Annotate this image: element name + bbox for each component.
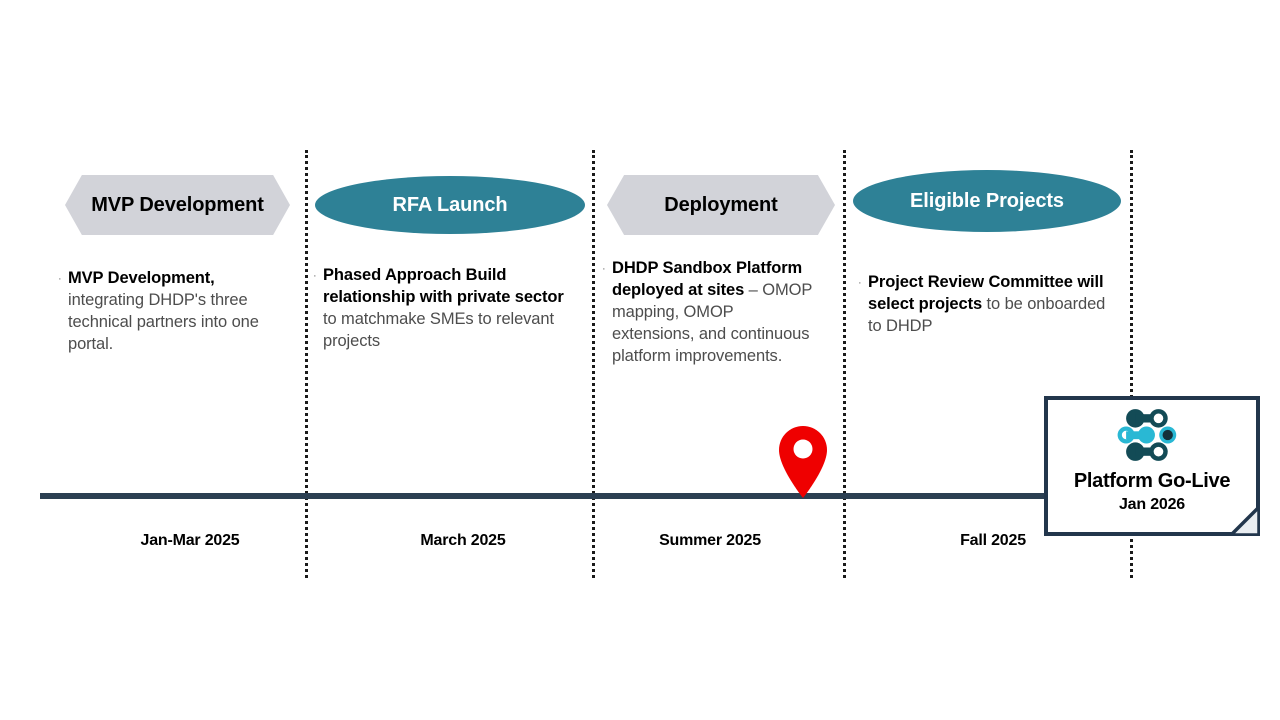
phase-banner-label: RFA Launch bbox=[383, 194, 518, 216]
date-label-jan-mar-2025: Jan-Mar 2025 bbox=[90, 532, 290, 550]
bullet-text: MVP Development, integrating DHDP's thre… bbox=[68, 268, 273, 356]
column-divider-1 bbox=[305, 150, 308, 578]
bullet-text: Project Review Committee will select pro… bbox=[868, 272, 1108, 338]
phase-bullet-mvp-development: · MVP Development, integrating DHDP's th… bbox=[58, 268, 273, 356]
map-pin-icon[interactable] bbox=[779, 426, 827, 498]
bullet-text: Phased Approach Build relationship with … bbox=[323, 265, 573, 353]
phase-banner-label: Eligible Projects bbox=[900, 190, 1074, 212]
bullet-bold-text: MVP Development, bbox=[68, 269, 215, 287]
phase-banner-label: MVP Development bbox=[81, 194, 274, 216]
bullet-dot-icon: · bbox=[58, 268, 68, 290]
phase-bullet-eligible-projects: · Project Review Committee will select p… bbox=[858, 272, 1108, 338]
column-divider-2 bbox=[592, 150, 595, 578]
phase-banner-mvp-development[interactable]: MVP Development bbox=[65, 175, 290, 235]
slide-canvas: MVP Development · MVP Development, integ… bbox=[0, 0, 1280, 720]
dhdp-network-logo-icon bbox=[1048, 408, 1256, 462]
phase-banner-eligible-projects[interactable]: Eligible Projects bbox=[853, 170, 1121, 232]
bullet-rest-text: to matchmake SMEs to relevant projects bbox=[323, 310, 554, 350]
callout-title: Platform Go-Live bbox=[1048, 470, 1256, 493]
bullet-dot-icon: · bbox=[602, 258, 612, 280]
phase-bullet-deployment: · DHDP Sandbox Platform deployed at site… bbox=[602, 258, 817, 368]
bullet-rest-text: integrating DHDP's three technical partn… bbox=[68, 291, 259, 353]
callout-subtitle: Jan 2026 bbox=[1048, 496, 1256, 514]
callout-fold-corner-icon bbox=[1230, 506, 1260, 536]
phase-bullet-rfa-launch: · Phased Approach Build relationship wit… bbox=[313, 265, 573, 353]
bullet-text: DHDP Sandbox Platform deployed at sites … bbox=[612, 258, 817, 368]
phase-banner-label: Deployment bbox=[654, 194, 787, 216]
phase-banner-rfa-launch[interactable]: RFA Launch bbox=[315, 176, 585, 234]
date-label-march-2025: March 2025 bbox=[363, 532, 563, 550]
column-divider-3 bbox=[843, 150, 846, 578]
bullet-dot-icon: · bbox=[313, 265, 323, 287]
date-label-summer-2025: Summer 2025 bbox=[610, 532, 810, 550]
phase-banner-deployment[interactable]: Deployment bbox=[607, 175, 835, 235]
bullet-bold-text: Phased Approach Build relationship with … bbox=[323, 266, 564, 306]
callout-platform-go-live[interactable]: Platform Go-Live Jan 2026 bbox=[1044, 396, 1260, 536]
bullet-dot-icon: · bbox=[858, 272, 868, 294]
